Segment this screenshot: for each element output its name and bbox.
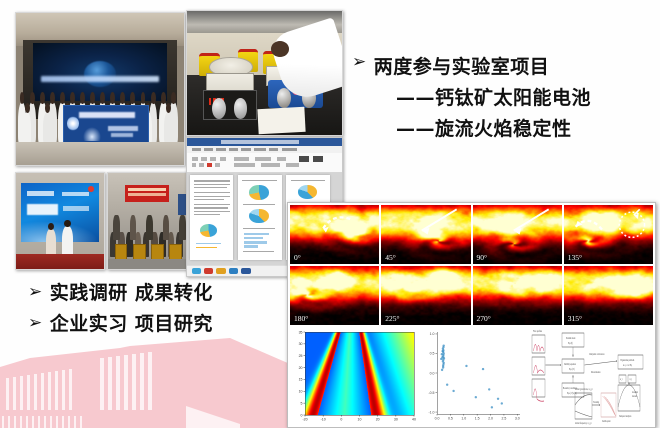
lower-text-block: ➢ 实践调研 成果转化 ➢ 企业实习 项目研究 — [28, 278, 293, 340]
svg-text:Normal mode: Normal mode — [566, 336, 576, 340]
group-photo — [15, 12, 185, 166]
flame-angle-label: 180° — [294, 314, 308, 323]
svg-text:Discretization: Discretization — [591, 370, 601, 374]
screen-wave-graphic — [21, 221, 98, 242]
stage-floor — [16, 254, 104, 269]
pie-chart — [298, 185, 316, 199]
flame-angle-label: 45° — [385, 253, 396, 262]
analysis-plots-row: Flow profiles Normal mode Eq. (9) Stabil… — [290, 327, 653, 425]
arrow-bullet-icon: ➢ — [28, 315, 43, 332]
screen-text-line — [63, 206, 89, 210]
lower-text-1: 实践调研 成果转化 — [50, 278, 213, 305]
lower-text-2: 企业实习 项目研究 — [50, 309, 213, 336]
scatter-plot — [420, 327, 525, 425]
arrow-bullet-icon: ➢ — [28, 284, 43, 301]
paper-sheet — [258, 107, 306, 134]
svg-text:Chebyshev collocation: Chebyshev collocation — [589, 352, 605, 356]
research-results-panel: 0°45°90°135°180°225°270°315° — [287, 202, 656, 428]
svg-text:Eqs. (17)-(19): Eqs. (17)-(19) — [567, 391, 577, 395]
pie-chart — [249, 185, 268, 199]
svg-text:Global frequency, w_g,r: Global frequency, w_g,r — [575, 421, 591, 425]
flame-image-315deg: 315° — [564, 266, 653, 325]
control-knob — [234, 98, 248, 119]
svg-text:Saddle point: Saddle point — [602, 419, 611, 423]
svg-text:A q = i w B q: A q = i w B q — [623, 363, 633, 367]
main-text-line-2: ——钙钛矿太阳能电池 — [396, 83, 652, 110]
flame-angle-label: 315° — [568, 314, 582, 323]
flame-angle-label: 270° — [477, 314, 491, 323]
banner-date-text — [111, 133, 133, 137]
svg-text:Flow profiles: Flow profiles — [533, 329, 542, 333]
flame-angle-label: 225° — [385, 314, 399, 323]
svg-text:Eq. (13): Eq. (13) — [569, 367, 575, 371]
pie-chart — [249, 209, 268, 223]
flame-angle-label: 135° — [568, 253, 582, 262]
organization-banner — [63, 105, 149, 147]
main-text-block: ➢ 两度参与实验室项目 ——钙钛矿太阳能电池 ——旋流火焰稳定性 — [352, 52, 652, 141]
room-floor — [108, 259, 191, 269]
screen-text-line — [62, 192, 90, 196]
main-text-2: ——钙钛矿太阳能电池 — [396, 83, 591, 110]
main-text-3: ——旋流火焰稳定性 — [396, 114, 572, 141]
flame-angle-label: 90° — [477, 253, 488, 262]
svg-text:w_r: w_r — [620, 377, 623, 381]
svg-text:Temporal analysis: Temporal analysis — [619, 414, 631, 418]
presentation-slide: 0°45°90°135°180°225°270°315° — [0, 0, 660, 428]
flame-image-grid: 0°45°90°135°180°225°270°315° — [290, 205, 653, 325]
red-banner — [125, 185, 170, 202]
main-text-line-3: ——旋流火焰稳定性 — [396, 114, 652, 141]
svg-text:Eq. (9): Eq. (9) — [568, 341, 573, 345]
svg-text:Eigenvalue problem: Eigenvalue problem — [621, 358, 635, 362]
banner-emblem-icon — [83, 127, 101, 141]
main-text-line-1: ➢ 两度参与实验室项目 — [352, 52, 652, 79]
floor — [16, 142, 184, 165]
document-page — [190, 175, 233, 259]
svg-text:descent: descent — [632, 394, 637, 398]
stage-presentation-photo — [15, 172, 105, 270]
controller-panel — [203, 90, 258, 119]
flame-image-0deg: 0° — [290, 205, 379, 264]
flame-image-45deg: 45° — [381, 205, 470, 264]
audience-photo — [107, 172, 192, 270]
main-text-1: 两度参与实验室项目 — [374, 52, 550, 79]
lower-text-line-1: ➢ 实践调研 成果转化 — [28, 278, 293, 305]
contour-plot — [290, 327, 420, 425]
banner-title-text — [79, 112, 134, 118]
banner-logo-icon — [67, 116, 79, 131]
flame-image-180deg: 180° — [290, 266, 379, 325]
arrow-bullet-icon: ➢ — [352, 54, 367, 71]
screen-logo-icon — [88, 186, 94, 191]
document-page — [238, 175, 281, 259]
pie-chart — [200, 224, 217, 237]
projection-screen — [21, 183, 98, 243]
lower-text-line-2: ➢ 企业实习 项目研究 — [28, 309, 293, 336]
svg-text:Stability equation: Stability equation — [564, 362, 576, 366]
lab-bench-photo — [186, 10, 343, 136]
gloved-hand — [271, 41, 290, 57]
flame-image-90deg: 90° — [473, 205, 562, 264]
screen-headline — [27, 204, 58, 215]
flame-image-135deg: 135° — [564, 205, 653, 264]
stability-analysis-flowchart: Flow profiles Normal mode Eq. (9) Stabil… — [525, 327, 653, 425]
svg-text:Global growth rate, w_g,i: Global growth rate, w_g,i — [575, 387, 593, 391]
flame-angle-label: 0° — [294, 253, 301, 262]
flame-image-225deg: 225° — [381, 266, 470, 325]
svg-text:Tracking: Tracking — [593, 400, 599, 404]
control-knob — [212, 98, 226, 119]
screen-text-line — [27, 191, 53, 196]
flame-image-270deg: 270° — [473, 266, 562, 325]
window-title-bar — [187, 138, 342, 146]
banner-subtitle-text — [108, 126, 138, 131]
svg-text:w_i: w_i — [630, 377, 633, 381]
ribbon-toolbar[interactable] — [187, 153, 342, 173]
